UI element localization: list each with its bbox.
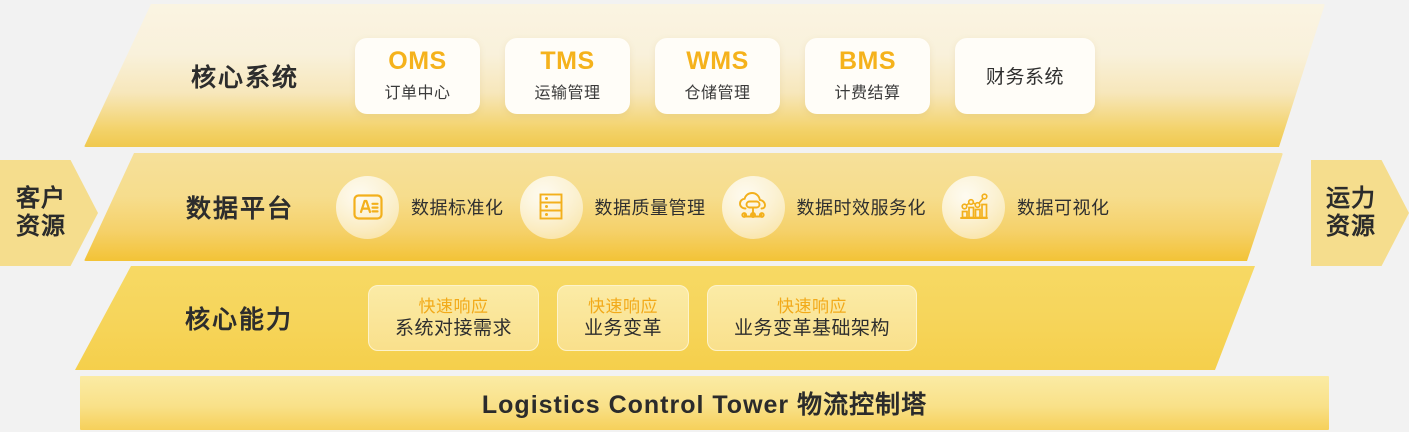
system-card-bms[interactable]: BMS 计费结算 — [805, 38, 930, 114]
system-card-tms[interactable]: TMS 运输管理 — [505, 38, 630, 114]
system-card-bms-abbr: BMS — [839, 48, 896, 76]
diagram-canvas: 客户 资源 运力 资源 核心系统 OMS 订单中心 TMS 运输管理 WMS 仓… — [0, 0, 1409, 432]
band-core-systems: 核心系统 OMS 订单中心 TMS 运输管理 WMS 仓储管理 BMS 计费结算… — [84, 4, 1325, 147]
data-platform-item-visualization[interactable]: 数据可视化 — [942, 176, 1110, 239]
side-tag-capacity-line1: 运力 — [1326, 185, 1376, 213]
system-card-wms-name: 仓储管理 — [685, 79, 751, 103]
band-footer: Logistics Control Tower 物流控制塔 — [80, 376, 1329, 430]
band-core-capability: 核心能力 快速响应 系统对接需求 快速响应 业务变革 快速响应 业务变革基础架构 — [75, 266, 1255, 370]
core-capability-card-list: 快速响应 系统对接需求 快速响应 业务变革 快速响应 业务变革基础架构 — [368, 285, 917, 351]
data-platform-item-standardization[interactable]: 数据标准化 — [336, 176, 504, 239]
system-card-wms-abbr: WMS — [686, 48, 749, 76]
data-platform-item-timeliness[interactable]: 数据时效服务化 — [722, 176, 927, 239]
side-tag-capacity-line2: 资源 — [1326, 213, 1376, 241]
data-platform-item-timeliness-label: 数据时效服务化 — [797, 194, 927, 220]
data-platform-item-quality[interactable]: 数据质量管理 — [520, 176, 706, 239]
data-platform-item-list: 数据标准化 数据质量管理 — [336, 176, 1110, 239]
system-card-finance[interactable]: 财务系统 — [955, 38, 1095, 114]
side-tag-customer-line1: 客户 — [16, 185, 66, 213]
data-platform-item-visualization-label: 数据可视化 — [1017, 194, 1110, 220]
text-standard-icon — [336, 176, 399, 239]
capability-card-architecture[interactable]: 快速响应 业务变革基础架构 — [707, 285, 917, 351]
capability-card-business-change-label: 业务变革 — [584, 317, 662, 341]
capability-card-system-integration[interactable]: 快速响应 系统对接需求 — [368, 285, 539, 351]
capability-card-architecture-tag: 快速响应 — [777, 296, 847, 317]
band-data-platform-label: 数据平台 — [186, 189, 294, 225]
data-platform-item-standardization-label: 数据标准化 — [411, 194, 504, 220]
system-card-finance-name: 财务系统 — [986, 62, 1064, 89]
capability-card-architecture-label: 业务变革基础架构 — [734, 317, 890, 341]
band-data-platform: 数据平台 数据标准化 — [84, 153, 1283, 261]
capability-card-business-change[interactable]: 快速响应 业务变革 — [557, 285, 689, 351]
database-quality-icon — [520, 176, 583, 239]
band-core-capability-label: 核心能力 — [185, 300, 293, 336]
system-card-tms-name: 运输管理 — [535, 79, 601, 103]
capability-card-business-change-tag: 快速响应 — [588, 296, 658, 317]
system-card-oms-name: 订单中心 — [385, 79, 451, 103]
side-tag-capacity-resource[interactable]: 运力 资源 — [1311, 160, 1409, 266]
footer-title: Logistics Control Tower 物流控制塔 — [482, 385, 927, 421]
side-tag-customer-resource[interactable]: 客户 资源 — [0, 160, 98, 266]
data-platform-item-quality-label: 数据质量管理 — [595, 194, 706, 220]
core-systems-card-list: OMS 订单中心 TMS 运输管理 WMS 仓储管理 BMS 计费结算 财务系统 — [355, 38, 1095, 114]
system-card-tms-abbr: TMS — [540, 48, 594, 76]
system-card-oms[interactable]: OMS 订单中心 — [355, 38, 480, 114]
cloud-network-icon — [722, 176, 785, 239]
system-card-wms[interactable]: WMS 仓储管理 — [655, 38, 780, 114]
side-tag-customer-line2: 资源 — [16, 213, 66, 241]
system-card-oms-abbr: OMS — [388, 48, 446, 76]
capability-card-system-integration-label: 系统对接需求 — [395, 317, 512, 341]
capability-card-system-integration-tag: 快速响应 — [419, 296, 489, 317]
chart-visualization-icon — [942, 176, 1005, 239]
system-card-bms-name: 计费结算 — [835, 79, 901, 103]
band-core-systems-label: 核心系统 — [191, 58, 299, 94]
